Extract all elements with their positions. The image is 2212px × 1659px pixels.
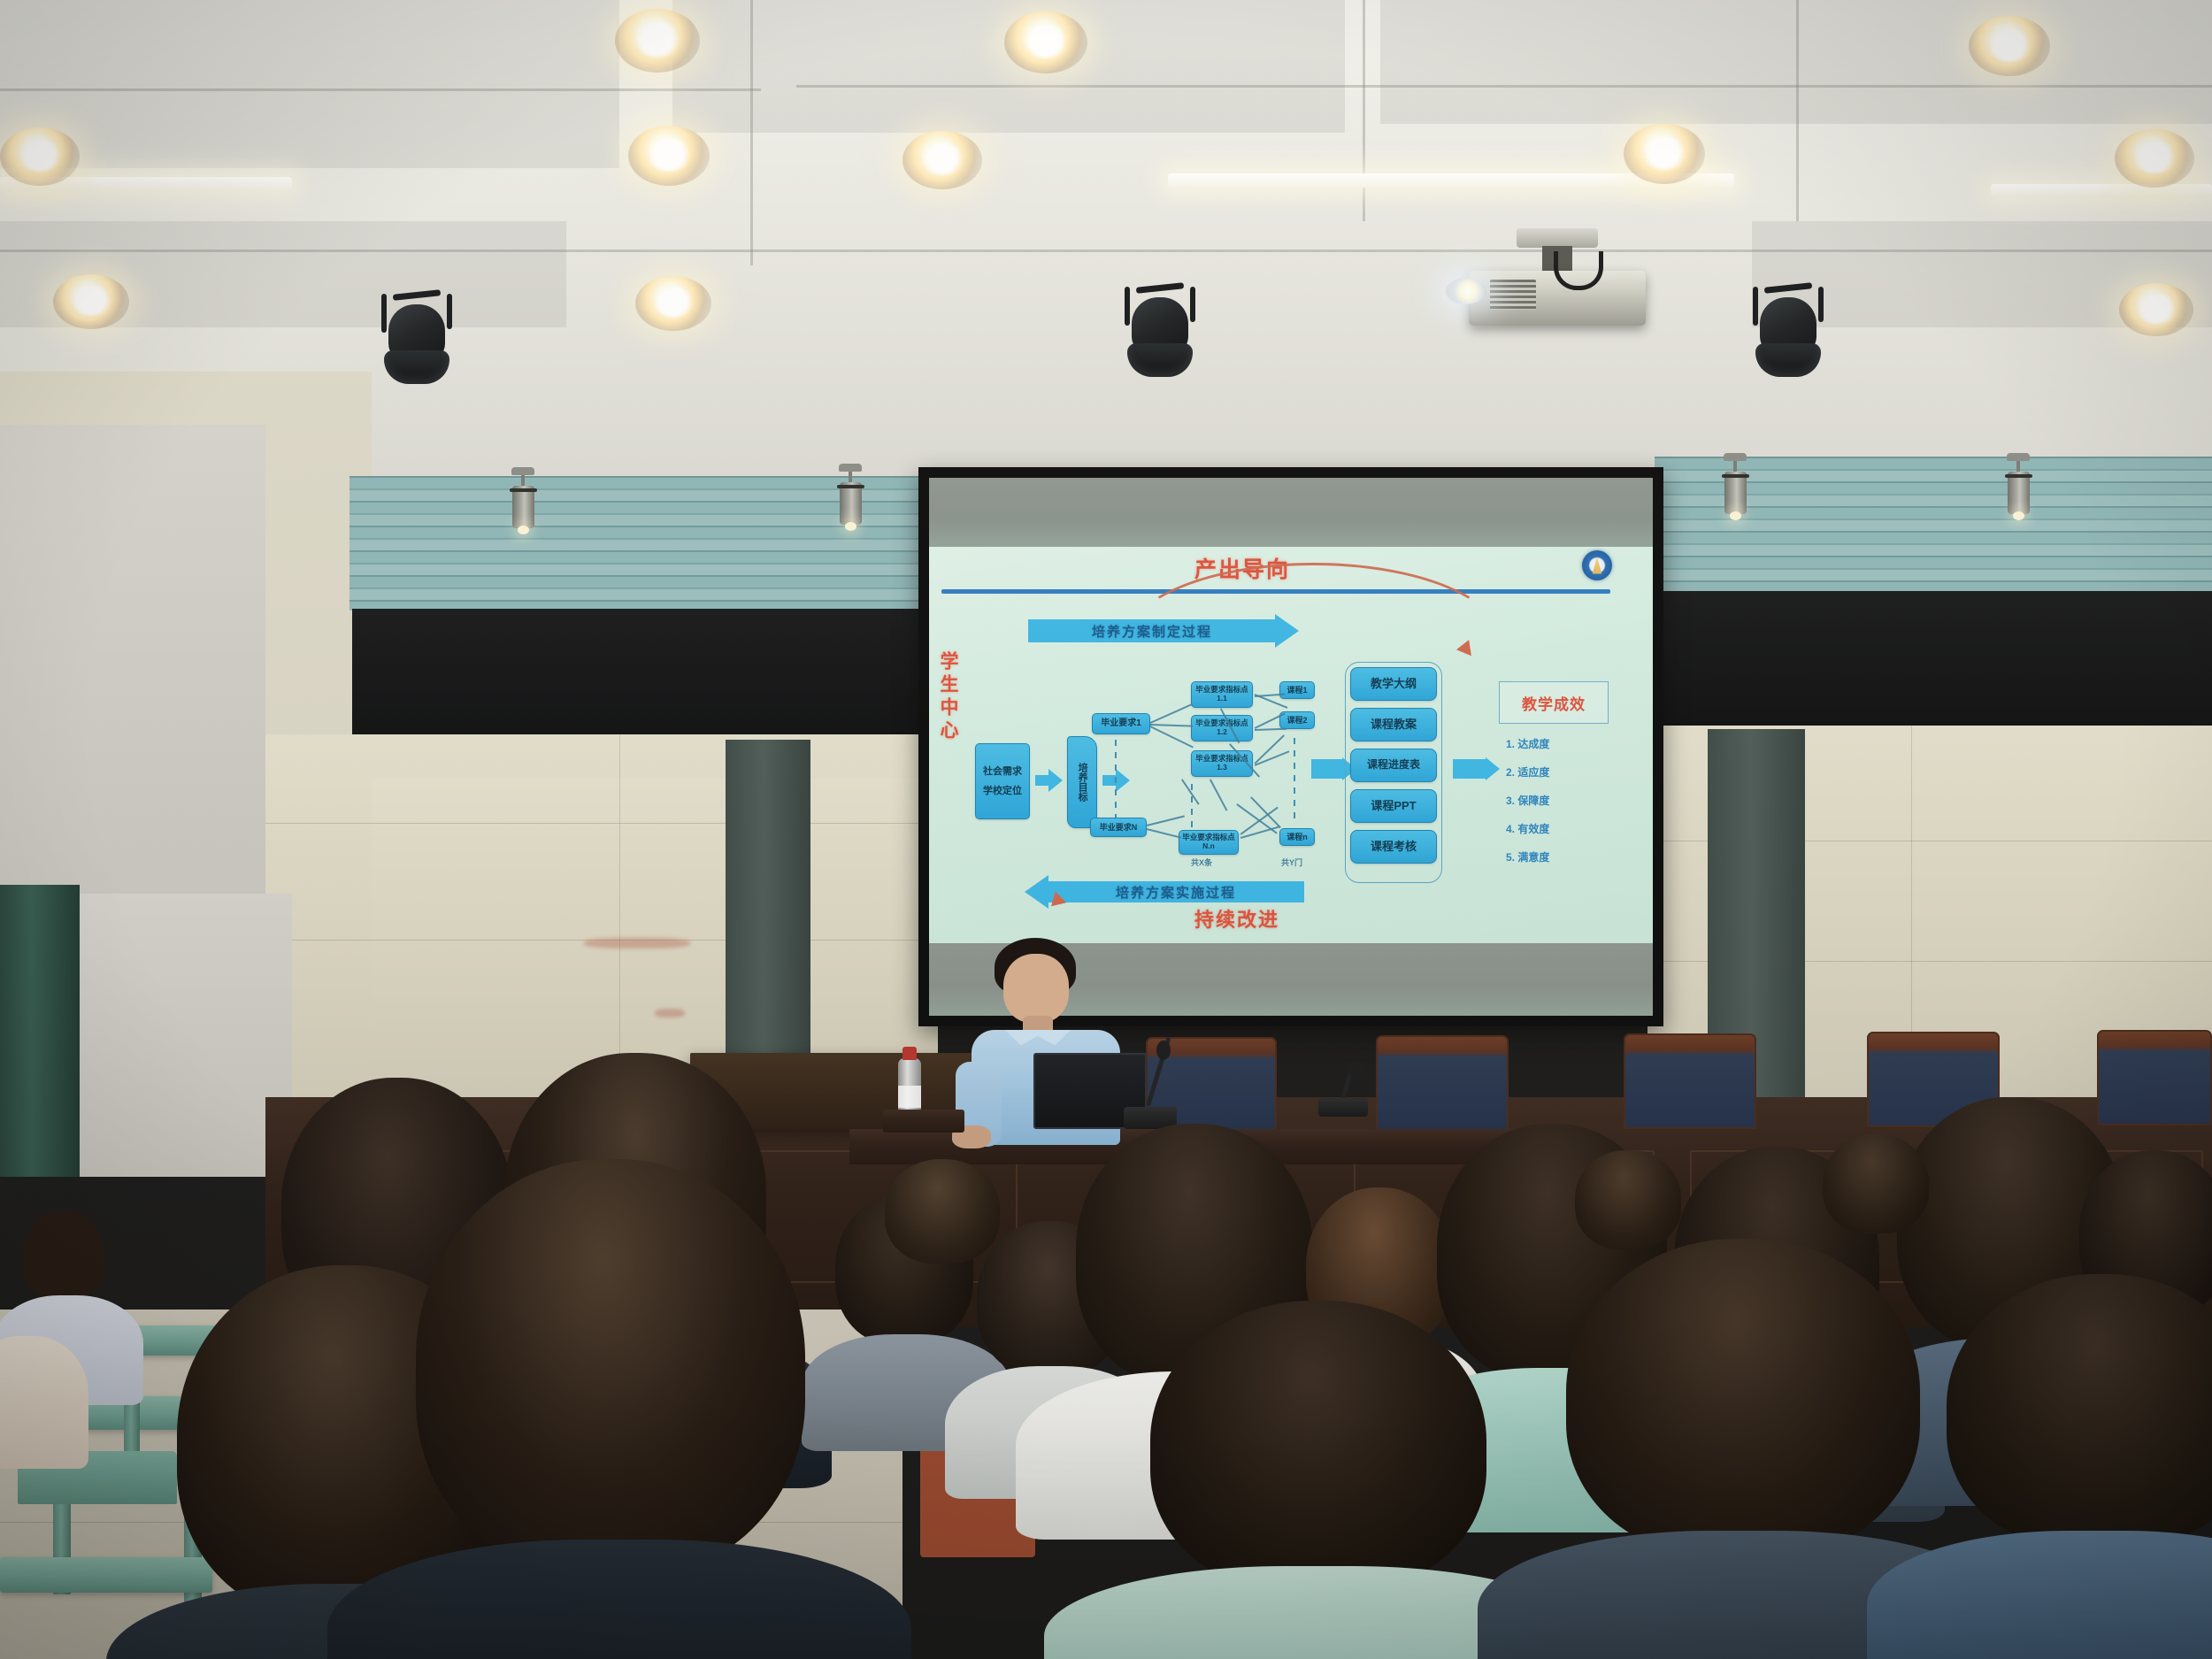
indicator-1-2-box: 毕业要求指标点1.2 <box>1191 715 1253 741</box>
material-box-1: 课程教案 <box>1350 708 1437 741</box>
material-box-3: 课程PPT <box>1350 789 1437 823</box>
stage-spotlight <box>376 292 457 398</box>
indicator-1-1-box: 毕业要求指标点1.1 <box>1191 681 1253 708</box>
wall-seam <box>619 734 620 1106</box>
recessed-downlight <box>0 127 80 186</box>
ceiling-seam <box>1363 0 1365 221</box>
ceiling-seam <box>1796 0 1799 221</box>
ceiling-coffer <box>0 0 619 168</box>
link-line <box>1147 815 1185 826</box>
recessed-downlight <box>1624 124 1705 184</box>
ceiling-seam <box>0 88 761 91</box>
link-line <box>1150 703 1193 724</box>
slot-light <box>1991 184 2212 196</box>
material-box-2: 课程进度表 <box>1350 749 1437 782</box>
top-process-arrow: 培养方案制定过程 <box>1028 619 1276 642</box>
ceiling-seam <box>0 250 2212 252</box>
lecture-hall-photo: 产出导向 学生中心 培养方案制定过程 社会需求 学校定位 <box>0 0 2212 1659</box>
requirement-n-box: 毕业要求N <box>1090 818 1147 837</box>
outcome-title-box: 教学成效 <box>1499 681 1609 724</box>
audience-torso <box>327 1540 911 1659</box>
top-process-arrow-label: 培养方案制定过程 <box>1092 622 1212 641</box>
bottom-process-arrow-label: 培养方案实施过程 <box>1116 883 1236 902</box>
outcome-loop-curve <box>1124 563 1504 722</box>
requirement-1-box: 毕业要求1 <box>1092 713 1150 734</box>
pendant-lamp <box>1724 453 1747 524</box>
projector-lens <box>1446 278 1486 304</box>
ceiling-seam <box>796 85 2212 88</box>
audience-hair <box>1566 1239 1920 1557</box>
input-box-line2: 学校定位 <box>983 786 1022 796</box>
arrow-to-outcome <box>1453 759 1486 779</box>
goal-box-label: 培养目标 <box>1077 763 1087 802</box>
audience-hair <box>1575 1150 1681 1249</box>
goal-box: 培养目标 <box>1067 736 1097 828</box>
screen-valance <box>1647 591 2212 729</box>
audience-hair <box>885 1159 1000 1263</box>
audience-torso <box>0 1336 88 1469</box>
recessed-downlight <box>1004 12 1087 73</box>
recessed-downlight <box>635 276 711 331</box>
recessed-downlight <box>628 126 710 186</box>
audience-hair <box>1150 1301 1486 1593</box>
recessed-downlight <box>2115 129 2194 188</box>
course-1-box: 课程1 <box>1279 681 1315 699</box>
link-line <box>1255 728 1286 731</box>
outcome-item-0: 1. 达成度 <box>1506 736 1549 751</box>
recessed-downlight <box>902 131 982 189</box>
university-emblem-icon <box>1582 550 1612 580</box>
link-line <box>1150 724 1193 726</box>
podium-tray <box>883 1110 964 1133</box>
slide-left-label: 学生中心 <box>934 651 961 743</box>
arrow-input-to-goal <box>1035 775 1049 786</box>
audience-member-foreground <box>1097 1301 1540 1659</box>
recessed-downlight <box>1969 16 2050 76</box>
audience-member <box>0 1301 80 1469</box>
stage-spotlight <box>1747 285 1829 391</box>
audience-member <box>1823 1134 1929 1240</box>
dashed-continuation <box>1294 738 1295 821</box>
indicator-1-3-box: 毕业要求指标点1.3 <box>1191 750 1253 777</box>
recessed-downlight <box>53 274 129 329</box>
pendant-lamp <box>839 464 862 534</box>
recessed-downlight <box>2119 283 2193 336</box>
audience-member-foreground <box>407 1159 832 1659</box>
pendant-lamp <box>2007 453 2030 524</box>
audience-hair <box>23 1210 104 1302</box>
link-line <box>1147 828 1181 838</box>
link-line <box>1210 779 1227 810</box>
stage-chair[interactable] <box>1376 1035 1509 1131</box>
slide-bottom-caption: 持续改进 <box>1194 904 1279 933</box>
door[interactable] <box>0 885 80 1177</box>
dashed-continuation <box>1115 740 1117 825</box>
outcome-item-4: 5. 满意度 <box>1506 849 1549 864</box>
wall-seam <box>265 823 938 824</box>
table-microphone <box>1318 1062 1368 1117</box>
material-box-0: 教学大纲 <box>1350 667 1437 701</box>
wall-pillar <box>726 740 810 1106</box>
recessed-downlight <box>615 9 700 73</box>
audience-torso <box>1867 1531 2212 1659</box>
outcome-item-1: 2. 适应度 <box>1506 764 1549 780</box>
ceiling-seam <box>750 0 753 265</box>
arrow-to-materials <box>1311 759 1343 779</box>
stage-chair[interactable] <box>1624 1033 1756 1129</box>
input-box: 社会需求 学校定位 <box>975 743 1030 819</box>
audience-member <box>885 1159 1000 1274</box>
audience-hair <box>416 1159 805 1575</box>
ceiling-coffer <box>672 0 1345 133</box>
outcome-item-3: 4. 有效度 <box>1506 821 1549 836</box>
pendant-lamp <box>511 467 534 538</box>
presenter-head <box>1003 954 1069 1023</box>
audience-member-foreground <box>1911 1274 2212 1659</box>
audience-hair <box>1823 1134 1929 1233</box>
input-box-line1: 社会需求 <box>983 766 1022 777</box>
outcome-item-2: 3. 保障度 <box>1506 793 1549 808</box>
ceiling-projector <box>1469 228 1646 334</box>
podium-microphone <box>1124 1044 1177 1129</box>
wall-mark <box>655 1009 685 1018</box>
stage-spotlight <box>1119 285 1201 391</box>
slide-content: 产出导向 学生中心 培养方案制定过程 社会需求 学校定位 <box>929 547 1653 943</box>
wall-mark <box>584 938 690 949</box>
wall-side-panel <box>80 894 292 1177</box>
screen-letterbox-top <box>929 478 1653 547</box>
audience-hair <box>1947 1274 2212 1548</box>
link-line <box>1150 726 1194 748</box>
